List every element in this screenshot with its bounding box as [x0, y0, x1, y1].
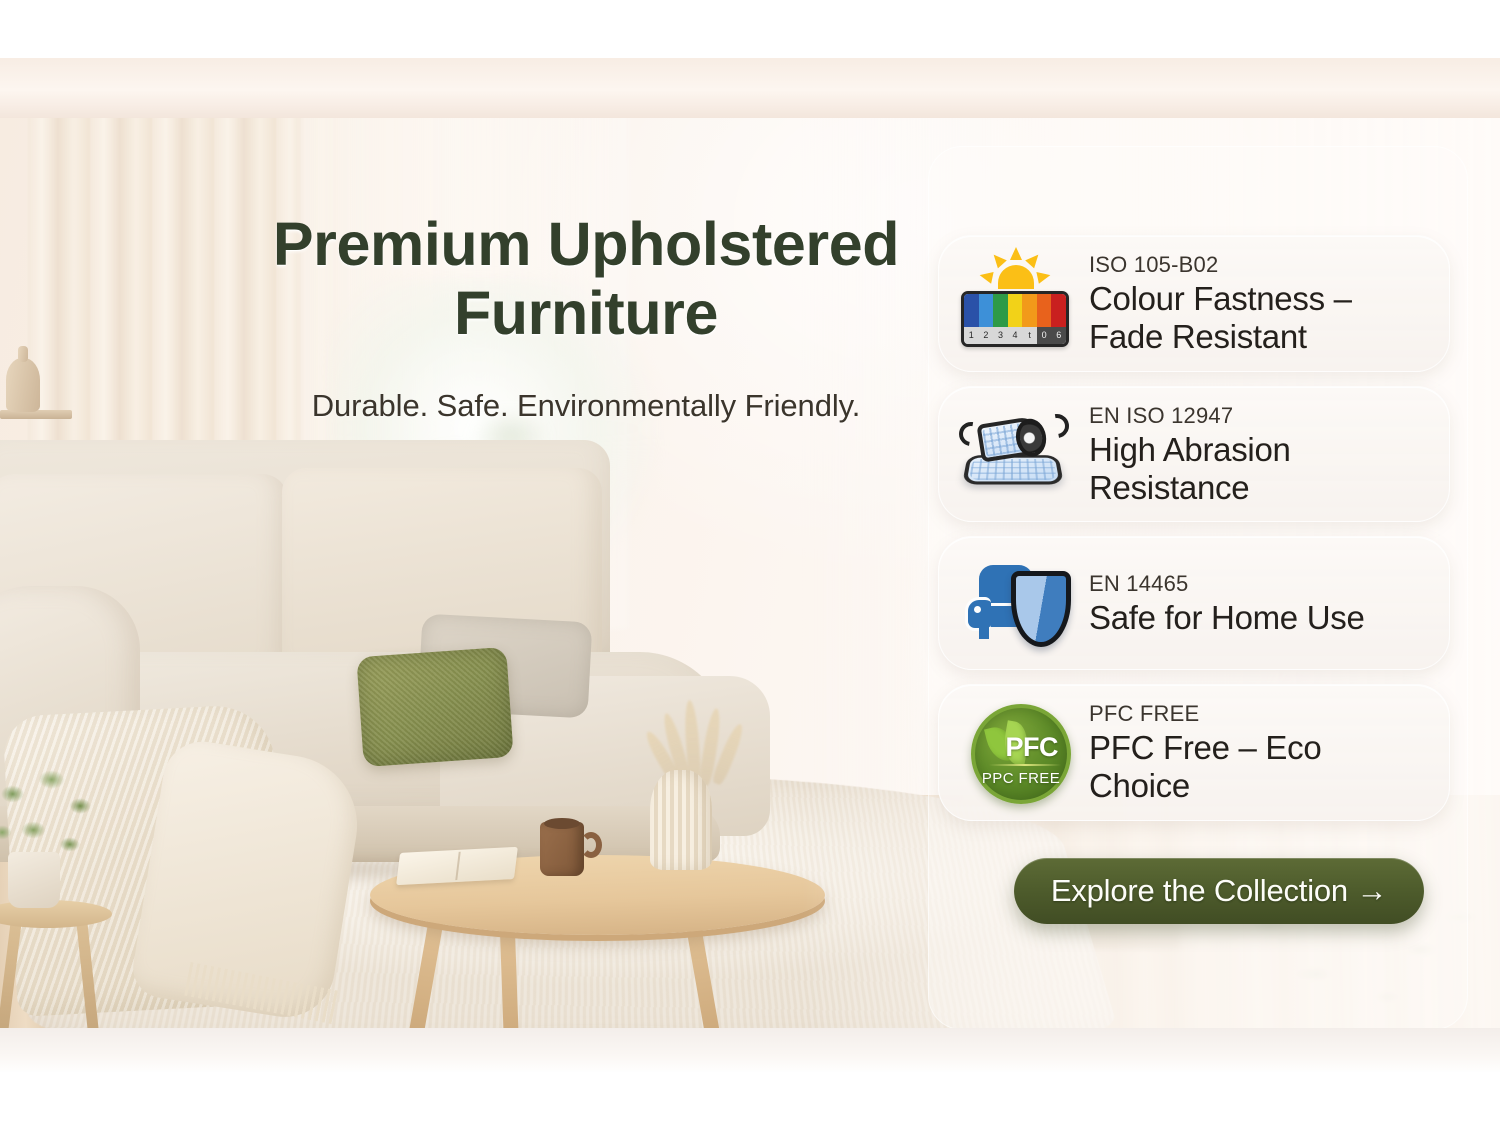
top-frame-band [0, 56, 1500, 118]
ribbed-vase [650, 770, 712, 870]
sun-core [998, 265, 1034, 289]
sun-ray [1036, 270, 1051, 284]
standard-label: ISO 105-B02 [1089, 252, 1429, 278]
card-title: High Abrasion Resistance [1089, 431, 1429, 508]
card-pfc-free[interactable]: PFC PPC FREE PFC FREE PFC Free – Eco Cho… [938, 684, 1450, 821]
sun-ray [978, 270, 993, 284]
card-text: PFC FREE PFC Free – Eco Choice [1089, 699, 1429, 806]
explore-collection-button[interactable]: Explore the Collection → [1014, 858, 1424, 924]
mug-handle [580, 832, 602, 858]
card-title-line-1: Colour Fastness – [1089, 280, 1429, 318]
top-matte [0, 0, 1500, 58]
olive-cushion [356, 647, 513, 767]
swatch [993, 294, 1008, 327]
coffee-table-leg [407, 917, 444, 1035]
subheadline: Durable. Safe. Environmentally Friendly. [236, 388, 936, 424]
scale-number: 0 [1037, 327, 1052, 344]
scale-number: 6 [1051, 327, 1066, 344]
scale-number: 4 [1008, 327, 1023, 344]
card-safe-for-home-use[interactable]: EN 14465 Safe for Home Use [938, 536, 1450, 670]
card-text: ISO 105-B02 Colour Fastness – Fade Resis… [1089, 250, 1429, 357]
coffee-table-leg [685, 919, 722, 1035]
card-title-line-2: Resistance [1089, 469, 1429, 507]
scale-number: 3 [993, 327, 1008, 344]
card-title-line-1: High Abrasion [1089, 431, 1429, 469]
armchair-foot [979, 627, 989, 639]
pfc-free-eco-badge-icon: PFC PPC FREE [957, 700, 1075, 804]
card-title-line-2: Fade Resistant [1089, 318, 1429, 356]
sun-ray [1025, 251, 1043, 269]
colour-scale-numbers: 1 2 3 4 t 0 6 [964, 327, 1066, 344]
armchair-shield-icon [957, 551, 1075, 655]
pfc-badge-sub-text: PPC FREE [975, 770, 1067, 787]
shelf-vase [6, 358, 40, 412]
swatch [1022, 294, 1037, 327]
pfc-badge-main-text: PFC [1006, 732, 1059, 763]
colour-scale: 1 2 3 4 t 0 6 [961, 291, 1069, 347]
abrasion-roller-icon [957, 402, 1075, 506]
sun-ray [1010, 247, 1022, 260]
bottom-matte [0, 1072, 1500, 1125]
standard-label: EN 14465 [1089, 571, 1429, 597]
coffee-table-leg [500, 925, 519, 1035]
card-title: Colour Fastness – Fade Resistant [1089, 280, 1429, 357]
card-title-line-1: Safe for Home Use [1089, 599, 1429, 637]
promo-banner: Premium Upholstered Furniture Durable. S… [0, 0, 1500, 1125]
swatch [1008, 294, 1023, 327]
explore-collection-label: Explore the Collection → [1051, 873, 1387, 909]
colour-scale-swatches [964, 294, 1066, 327]
sun-colour-scale-icon: 1 2 3 4 t 0 6 [957, 251, 1075, 355]
swatch [1037, 294, 1052, 327]
card-colour-fastness[interactable]: 1 2 3 4 t 0 6 ISO 105-B02 Colour Fastnes… [938, 235, 1450, 372]
sun-ray [989, 251, 1007, 269]
fabric-pad-texture [969, 459, 1057, 480]
scale-number: 1 [964, 327, 979, 344]
certification-card-list: 1 2 3 4 t 0 6 ISO 105-B02 Colour Fastnes… [938, 235, 1450, 835]
swatch [964, 294, 979, 327]
card-text: EN ISO 12947 High Abrasion Resistance [1089, 401, 1429, 508]
card-title: Safe for Home Use [1089, 599, 1429, 637]
swatch [979, 294, 994, 327]
coffee-mug [540, 822, 584, 876]
card-abrasion-resistance[interactable]: EN ISO 12947 High Abrasion Resistance [938, 386, 1450, 523]
armchair-armrest [965, 597, 991, 631]
page-title: Premium Upholstered Furniture [236, 210, 936, 348]
scale-number: t [1022, 327, 1037, 344]
pampas-grass [612, 666, 772, 786]
sun-icon [987, 253, 1043, 289]
bottom-frame-band [0, 1028, 1500, 1074]
standard-label: PFC FREE [1089, 701, 1429, 727]
card-title-line-1: PFC Free – Eco Choice [1089, 729, 1429, 806]
fabric-pad [962, 455, 1064, 484]
headline-block: Premium Upholstered Furniture Durable. S… [236, 210, 936, 424]
potted-plant-foliage [0, 758, 114, 878]
standard-label: EN ISO 12947 [1089, 403, 1429, 429]
scale-number: 2 [979, 327, 994, 344]
pfc-badge: PFC PPC FREE [971, 704, 1071, 804]
card-text: EN 14465 Safe for Home Use [1089, 569, 1429, 637]
headline-line-2: Furniture [236, 279, 936, 348]
swatch [1051, 294, 1066, 327]
pfc-badge-divider [989, 764, 1061, 766]
card-title: PFC Free – Eco Choice [1089, 729, 1429, 806]
abrasion-roller [976, 415, 1043, 462]
open-book [396, 847, 518, 885]
headline-line-1: Premium Upholstered [236, 210, 936, 279]
